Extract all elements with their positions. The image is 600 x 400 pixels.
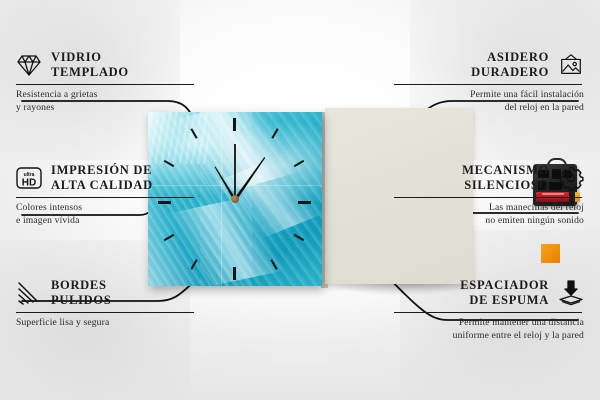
callout-title-line2: ALTA CALIDAD [51, 178, 153, 193]
callout-espaciador-de-espuma[interactable]: ESPACIADOR DE ESPUMA Permite mantener un… [394, 278, 584, 343]
wall-hanger-frame-icon [558, 52, 584, 78]
clock-tick-7 [190, 259, 197, 270]
callout-desc-line1: Resistencia a grietas [16, 89, 196, 102]
callout-header: BORDES PULIDOS [16, 278, 196, 308]
callout-desc-line2: e imagen vívida [16, 215, 196, 228]
callout-asidero-duradero[interactable]: ASIDERO DURADERO Permite una fácil insta… [394, 50, 584, 115]
feather-texture-right [200, 112, 322, 286]
callout-title-line2: TEMPLADO [51, 65, 129, 80]
callout-desc-line1: Superficie lisa y segura [16, 317, 196, 330]
clock-tick-3 [298, 201, 311, 204]
callout-rule [16, 84, 194, 86]
callout-title-line2: PULIDOS [51, 293, 111, 308]
callout-title-line2: DURADERO [471, 65, 549, 80]
clock-tick-6 [233, 267, 236, 280]
gear-icon [558, 165, 584, 191]
callout-mecanismo-silencioso[interactable]: MECANISMO SILENCIOSO Las manecillas del … [394, 163, 584, 228]
clock-tick-8 [164, 234, 175, 241]
clock-tick-4 [294, 234, 305, 241]
callout-desc-line2: del reloj en la pared [394, 102, 584, 115]
callout-title-line1: ESPACIADOR [460, 278, 549, 293]
foam-spacer-arrow-icon [558, 280, 584, 306]
callout-rule [394, 84, 582, 86]
callout-header: ultra HD IMPRESIÓN DE ALTA CALIDAD [16, 163, 196, 193]
ultra-hd-icon: ultra HD [16, 165, 42, 191]
callout-rule [394, 312, 582, 314]
callout-header: MECANISMO SILENCIOSO [394, 163, 584, 193]
diamond-icon [16, 52, 42, 78]
callout-title-line1: MECANISMO [462, 163, 549, 178]
callout-desc-line2: y rayones [16, 102, 196, 115]
callout-title-line1: BORDES [51, 278, 111, 293]
callout-desc-line2: uniforme entre el reloj y la pared [394, 330, 584, 343]
polished-edges-icon [16, 280, 42, 306]
callout-rule [16, 312, 194, 314]
foam-spacer [541, 244, 560, 263]
callout-bordes-pulidos[interactable]: BORDES PULIDOS Superficie lisa y segura [16, 278, 196, 330]
clock-tick-2 [294, 160, 305, 167]
callout-title-line2: SILENCIOSO [462, 178, 549, 193]
callout-rule [394, 197, 582, 199]
clock-center-hub [231, 195, 239, 203]
clock-minute-hand [233, 156, 268, 202]
callout-desc-line1: Permite una fácil instalación [394, 89, 584, 102]
callout-header: VIDRIO TEMPLADO [16, 50, 196, 80]
callout-title-line1: VIDRIO [51, 50, 129, 65]
clock-tick-12 [233, 118, 236, 131]
glass-reflection-seam-vertical [221, 112, 222, 286]
callout-vidrio-templado[interactable]: VIDRIO TEMPLADO Resistencia a grietas y … [16, 50, 196, 115]
callout-desc-line1: Permite mantener una distancia [394, 317, 584, 330]
callout-rule [16, 197, 194, 199]
feather-texture-corner [148, 112, 209, 164]
callout-title-line1: ASIDERO [471, 50, 549, 65]
callout-impresion-alta-calidad[interactable]: ultra HD IMPRESIÓN DE ALTA CALIDAD Color… [16, 163, 196, 228]
callout-title-line1: IMPRESIÓN DE [51, 163, 153, 178]
callout-desc-line1: Las manecillas del reloj [394, 202, 584, 215]
callout-desc-line2: no emiten ningún sonido [394, 215, 584, 228]
clock-tick-5 [270, 259, 277, 270]
callout-header: ASIDERO DURADERO [394, 50, 584, 80]
clock-second-hand [234, 144, 236, 202]
infographic-canvas: VIDRIO TEMPLADO Resistencia a grietas y … [0, 0, 600, 400]
callout-desc-line1: Colores intensos [16, 202, 196, 215]
svg-text:HD: HD [22, 177, 36, 188]
clock-tick-11 [190, 128, 197, 139]
clock-tick-1 [271, 128, 278, 139]
callout-header: ESPACIADOR DE ESPUMA [394, 278, 584, 308]
callout-title-line2: DE ESPUMA [460, 293, 549, 308]
